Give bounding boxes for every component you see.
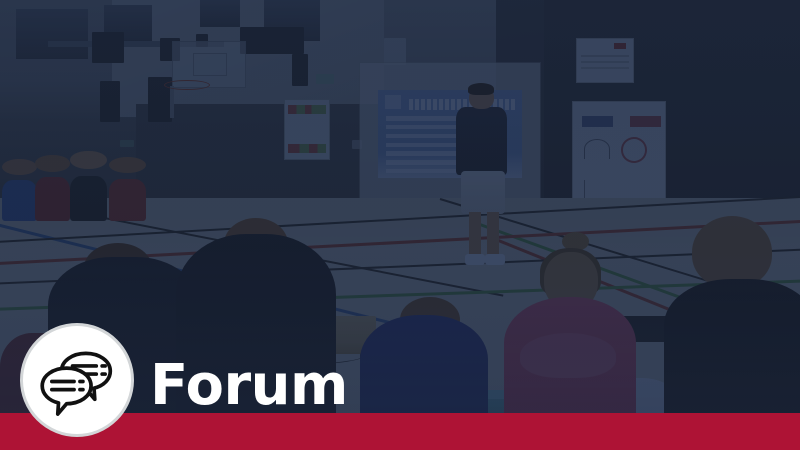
forum-logo: [20, 323, 134, 437]
brand-lockup: Forum: [0, 310, 800, 450]
page-title: Forum: [150, 358, 348, 414]
forum-banner: Forum: [0, 0, 800, 450]
speech-bubbles-icon: [40, 343, 114, 417]
